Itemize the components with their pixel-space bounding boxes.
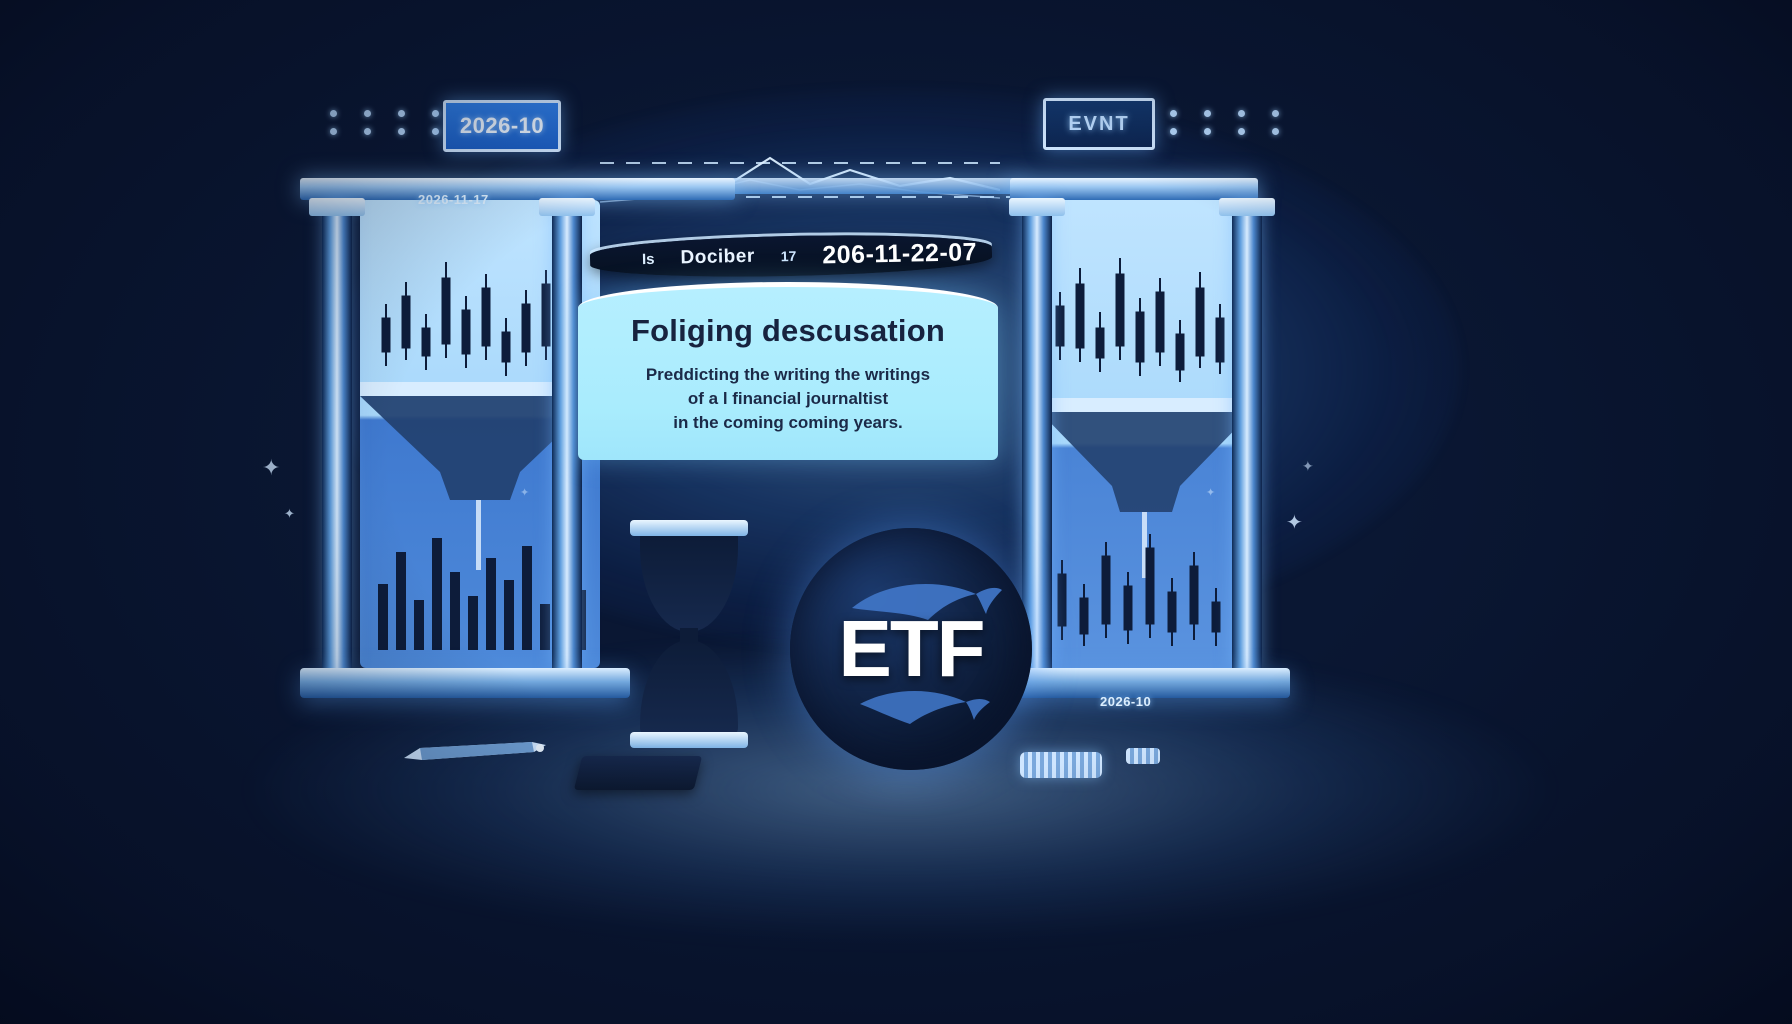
tag-upper-left: 2026-11-17 bbox=[418, 192, 489, 207]
right-hourglass-chart bbox=[1040, 200, 1252, 668]
right-hourglass bbox=[1040, 200, 1252, 668]
mini-hourglass-upper-bulb bbox=[640, 536, 738, 632]
mini-hourglass-top-cap bbox=[630, 520, 748, 536]
marquee-dots-right bbox=[1170, 110, 1306, 146]
pillar-outer-left bbox=[322, 198, 352, 668]
sparkle-icon: ✦ bbox=[1206, 486, 1215, 499]
coin-small bbox=[1126, 748, 1160, 764]
poster-headline: Foliging descusation bbox=[578, 313, 998, 349]
ticker-day: 17 bbox=[781, 248, 797, 264]
date-plaque-left: 2026-10 bbox=[443, 100, 561, 152]
mini-hourglass-bottom-cap bbox=[630, 732, 748, 748]
etf-label: ETF bbox=[838, 603, 983, 695]
lintel-left bbox=[300, 178, 735, 200]
event-plaque-right-text: EVNT bbox=[1068, 113, 1129, 136]
lintel-right bbox=[1010, 178, 1258, 200]
sparkle-icon: ✦ bbox=[284, 506, 295, 522]
etf-sphere: ETF bbox=[790, 528, 1032, 770]
event-plaque-right: EVNT bbox=[1043, 98, 1155, 150]
poster-subline-3: in the coming coming years. bbox=[578, 411, 998, 435]
poster-subline-1: Preddicting the writing the writings bbox=[578, 363, 998, 387]
plinth-left bbox=[300, 668, 630, 698]
poster-subline-2: of a l financial journaltist bbox=[578, 387, 998, 411]
pen-icon bbox=[400, 738, 550, 764]
mini-hourglass-lower-bulb bbox=[640, 640, 738, 736]
date-plaque-left-text: 2026-10 bbox=[460, 113, 544, 139]
pillar-outer-right bbox=[1232, 198, 1262, 668]
tag-lower-right: 2026-10 bbox=[1100, 694, 1151, 709]
center-mini-hourglass bbox=[630, 520, 748, 748]
poster-panel: Foliging descusation Preddicting the wri… bbox=[578, 282, 998, 460]
sparkle-icon: ✦ bbox=[262, 455, 280, 481]
coin-stack bbox=[1020, 752, 1102, 778]
sparkle-icon: ✦ bbox=[1286, 510, 1303, 535]
business-card bbox=[574, 756, 702, 790]
ticker-code: 206-11-22-07 bbox=[822, 238, 977, 270]
illustration-canvas: 2026-10 EVNT bbox=[0, 0, 1792, 1024]
sparkle-icon: ✦ bbox=[1302, 458, 1314, 475]
lintel-center bbox=[730, 178, 1020, 194]
ticker-word: Dociber bbox=[680, 246, 755, 270]
sparkle-icon: ✦ bbox=[520, 486, 529, 499]
ticker-prefix: Is bbox=[642, 250, 655, 267]
